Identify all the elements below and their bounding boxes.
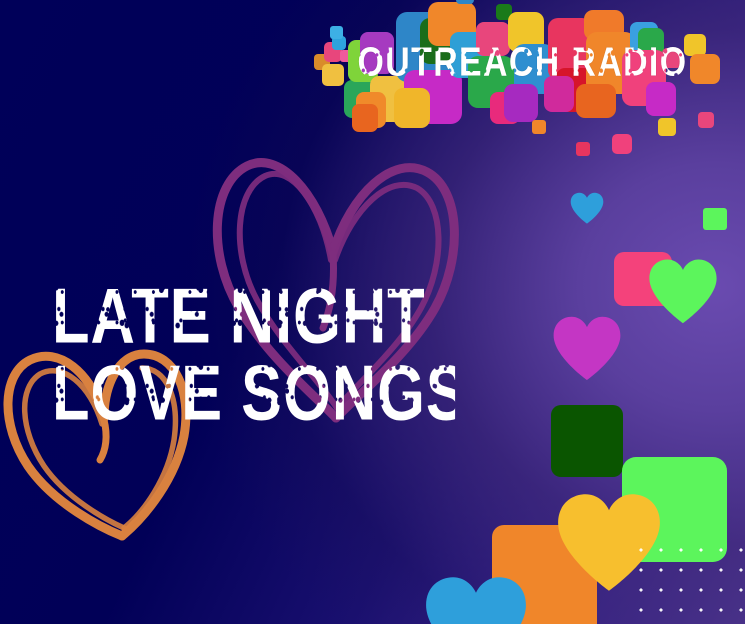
banner-title: OUTREACH RADIO (313, 42, 731, 82)
poster-canvas: OUTREACH RADIO LATE NIGHT LOVE SONGS (0, 0, 745, 624)
banner-tile (698, 112, 714, 128)
banner-tile (330, 26, 343, 39)
headline-line-1: LATE NIGHT (52, 278, 455, 355)
banner-tile (576, 84, 616, 118)
green-square-tiny (703, 208, 727, 230)
banner-tile (658, 118, 676, 136)
headline-line-2: LOVE SONGS (52, 355, 455, 432)
banner-tile (532, 120, 546, 134)
magenta-heart-icon (552, 316, 622, 380)
banner-tile (504, 84, 538, 122)
banner-tile (576, 142, 590, 156)
blue-heart-large-icon (424, 576, 528, 624)
page-title: LATE NIGHT LOVE SONGS (52, 278, 455, 431)
banner-tile (456, 0, 474, 4)
dark-green-square (551, 405, 623, 477)
blue-heart-small-icon (570, 192, 604, 224)
banner-tile (394, 88, 430, 128)
green-heart-icon (648, 258, 718, 324)
banner-tile (612, 134, 632, 154)
outreach-radio-banner: OUTREACH RADIO (300, 0, 745, 162)
dot-grid-pattern (625, 534, 745, 624)
banner-tile (646, 82, 676, 116)
banner-tile (352, 104, 378, 132)
